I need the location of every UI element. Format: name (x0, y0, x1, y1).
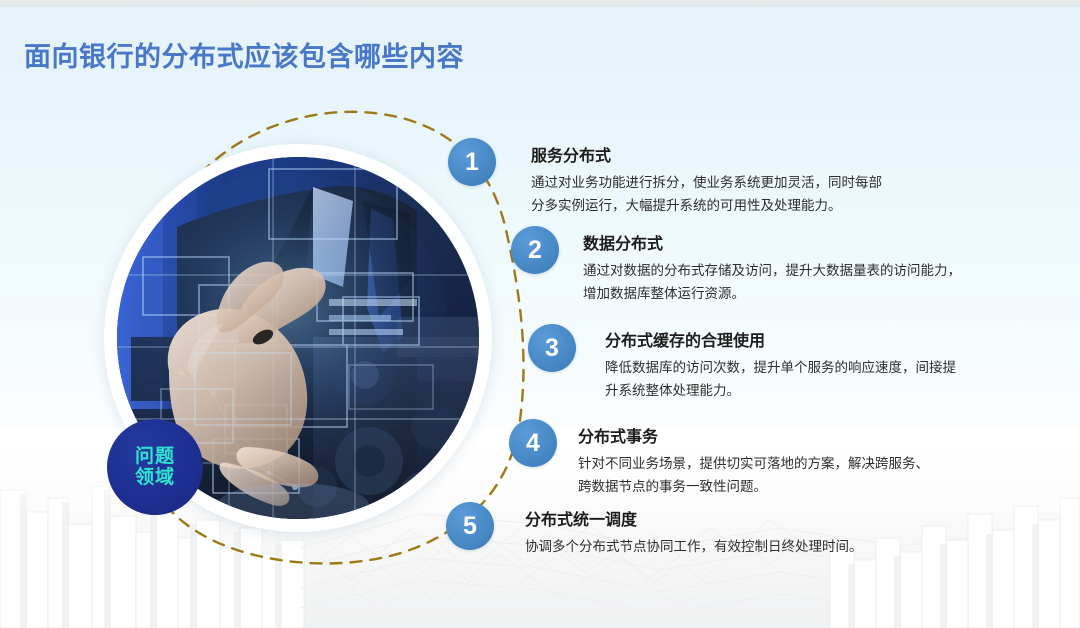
item-number-circle-3: 3 (528, 324, 576, 372)
item-number-circle-1: 1 (448, 138, 496, 186)
item-body: 通过对业务功能进行拆分，使业务系统更加灵活，同时每部 分多实例运行，大幅提升系统… (531, 171, 971, 217)
item-heading: 服务分布式 (531, 142, 971, 166)
item-body: 降低数据库的访问次数，提升单个服务的响应速度，间接提 升系统整体处理能力。 (605, 356, 1055, 402)
item-heading: 分布式缓存的合理使用 (605, 327, 1055, 351)
item-number-circle-4: 4 (509, 419, 557, 467)
item-heading: 分布式事务 (578, 423, 1028, 447)
item-body: 通过对数据的分布式存储及访问，提升大数据量表的访问能力， 增加数据库整体运行资源… (583, 259, 1043, 305)
item-heading: 分布式统一调度 (525, 506, 995, 530)
top-edge-strip (0, 0, 1080, 7)
page-title: 面向银行的分布式应该包含哪些内容 (24, 35, 464, 74)
item-heading: 数据分布式 (583, 230, 1043, 254)
item-number-circle-2: 2 (511, 226, 559, 274)
slide-canvas: 问题 领域 面向银行的分布式应该包含哪些内容 1 服务分布式 通过对业务功能进行… (0, 0, 1080, 628)
content-list: 1 服务分布式 通过对业务功能进行拆分，使业务系统更加灵活，同时每部 分多实例运… (0, 0, 1080, 628)
item-body: 协调多个分布式节点协同工作，有效控制日终处理时间。 (525, 535, 995, 558)
item-body: 针对不同业务场景，提供切实可落地的方案，解决跨服务、 跨数据节点的事务一致性问题… (578, 452, 1028, 498)
item-number-circle-5: 5 (446, 502, 494, 550)
